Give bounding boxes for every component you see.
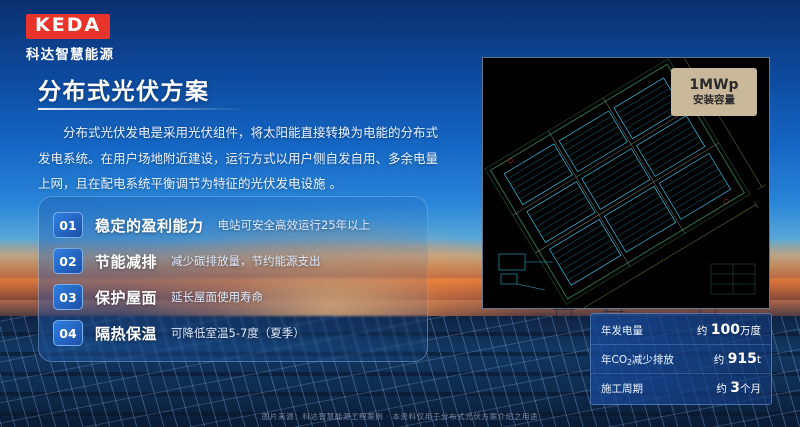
- feature-title: 节能减排: [95, 251, 157, 272]
- feature-title: 稳定的盈利能力: [95, 215, 204, 236]
- feature-description: 可降低室温5-7度（夏季）: [171, 325, 305, 341]
- stat-prefix: 约: [714, 354, 728, 366]
- feature-description: 减少碳排放量，节约能源支出: [171, 253, 321, 269]
- feature-description: 延长屋面使用寿命: [171, 289, 263, 305]
- stat-label: 年发电量: [601, 323, 697, 338]
- title-underline: [38, 108, 248, 110]
- stat-prefix: 约: [697, 325, 711, 337]
- feature-number-badge: 01: [53, 212, 83, 238]
- page-title: 分布式光伏方案: [38, 72, 210, 106]
- capacity-badge: 1MWp 安装容量: [671, 68, 757, 116]
- list-item: 04 隔热保温 可降低室温5-7度（夏季）: [39, 315, 427, 351]
- stat-number: 100: [711, 322, 740, 338]
- stat-label-post: 减少排放: [632, 354, 674, 366]
- feature-title: 隔热保温: [95, 323, 157, 344]
- stat-number: 3: [730, 380, 740, 396]
- stat-value: 约 100万度: [697, 322, 761, 338]
- feature-title: 保护屋面: [95, 287, 157, 308]
- stat-unit: 万度: [740, 325, 761, 337]
- logo-company-name: 科达智慧能源: [26, 43, 176, 63]
- stat-label: 施工周期: [601, 381, 716, 396]
- capacity-caption: 安装容量: [693, 94, 735, 107]
- feature-number-badge: 03: [53, 284, 83, 310]
- logo-mark: KEDA: [26, 14, 110, 39]
- feature-description: 电站可安全高效运行25年以上: [218, 217, 371, 233]
- intro-paragraph: 分布式光伏发电是采用光伏组件，将太阳能直接转换为电能的分布式发电系统。在用户场地…: [38, 120, 438, 197]
- feature-number-badge: 02: [53, 248, 83, 274]
- cad-site-plan: 1MWp 安装容量: [482, 57, 770, 309]
- stat-prefix: 约: [716, 383, 730, 395]
- stat-unit: t: [757, 354, 761, 366]
- stat-row-construction-period: 施工周期 约 3个月: [591, 374, 771, 402]
- stat-label: 年CO2减少排放: [601, 352, 714, 367]
- stat-value: 约 3个月: [716, 380, 761, 396]
- slide-root: KEDA 科达智慧能源 分布式光伏方案 分布式光伏发电是采用光伏组件，将太阳能直…: [0, 0, 800, 427]
- stat-row-annual-generation: 年发电量 约 100万度: [591, 316, 771, 345]
- footer-note: 图片来源：科达智慧能源工程案例 · 本资料仅用于分布式光伏方案介绍之用途: [0, 411, 800, 422]
- stat-row-co2-reduction: 年CO2减少排放 约 915t: [591, 345, 771, 374]
- company-logo: KEDA 科达智慧能源: [26, 14, 176, 63]
- stat-unit: 个月: [740, 383, 761, 395]
- stat-number: 915: [728, 351, 757, 367]
- capacity-value: 1MWp: [689, 77, 738, 95]
- list-item: 01 稳定的盈利能力 电站可安全高效运行25年以上: [39, 207, 427, 243]
- stats-panel: 年发电量 约 100万度 年CO2减少排放 约 915t 施工周期 约 3个月: [590, 313, 772, 405]
- feature-number-badge: 04: [53, 320, 83, 346]
- list-item: 03 保护屋面 延长屋面使用寿命: [39, 279, 427, 315]
- feature-list: 01 稳定的盈利能力 电站可安全高效运行25年以上 02 节能减排 减少碳排放量…: [38, 196, 428, 362]
- list-item: 02 节能减排 减少碳排放量，节约能源支出: [39, 243, 427, 279]
- stat-label-pre: 年CO: [601, 354, 627, 366]
- stat-value: 约 915t: [714, 351, 761, 367]
